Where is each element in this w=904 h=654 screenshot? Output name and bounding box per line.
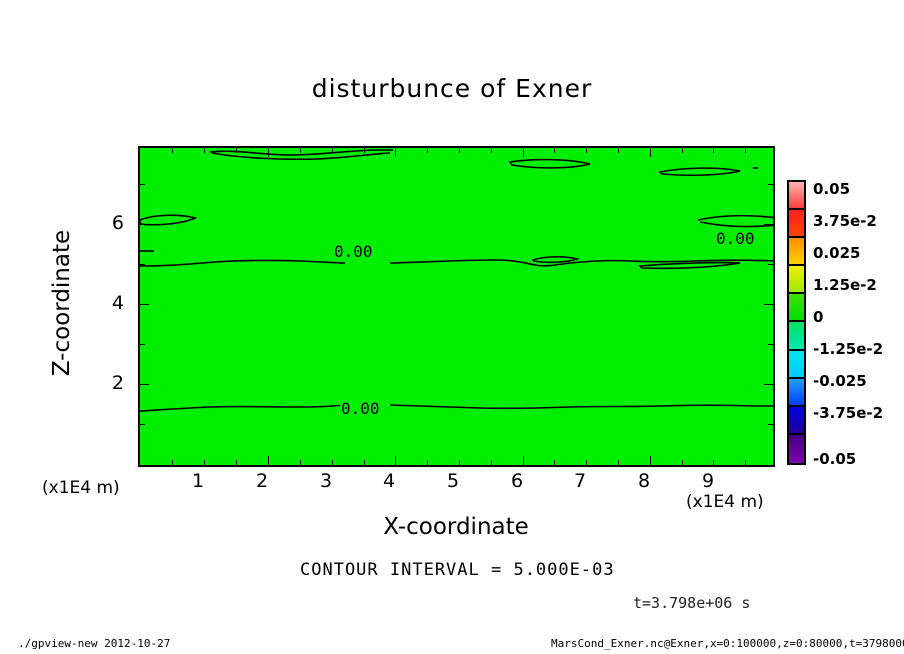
colorbar-band <box>789 182 804 210</box>
x-tick-label: 8 <box>624 470 664 492</box>
page-title: disturbunce of Exner <box>0 74 904 103</box>
colorbar-tick-label: 1.25e-2 <box>813 276 877 294</box>
y-axis-title: Z-coordinate <box>49 208 75 398</box>
x-axis-unit-label: (x1E4 m) <box>686 492 764 512</box>
contour-label: 0.00 <box>333 242 374 261</box>
y-axis-unit-label: (x1E4 m) <box>42 478 120 498</box>
colorbar-band <box>789 210 804 238</box>
colorbar-band <box>789 238 804 266</box>
colorbar-tick-label: 0.05 <box>813 180 850 198</box>
colorbar-tick-label: -1.25e-2 <box>813 340 883 358</box>
x-axis-title: X-coordinate <box>236 514 676 540</box>
x-tick-label: 1 <box>178 470 218 492</box>
colorbar-tick-label: 0 <box>813 308 823 326</box>
colorbar-tick-label: -0.025 <box>813 372 867 390</box>
colorbar-band <box>789 266 804 294</box>
contour-interval-annotation: CONTOUR INTERVAL = 5.000E-03 <box>300 560 615 580</box>
y-tick-label: 2 <box>98 372 124 394</box>
colorbar-band <box>789 351 804 379</box>
colorbar-band <box>789 435 804 463</box>
y-tick-label: 6 <box>98 212 124 234</box>
contour-plot-area <box>138 146 775 467</box>
colorbar-band <box>789 407 804 435</box>
colorbar-tick-label: -0.05 <box>813 450 856 468</box>
x-tick-label: 7 <box>560 470 600 492</box>
y-tick-label: 4 <box>98 292 124 314</box>
x-tick-label: 9 <box>688 470 728 492</box>
footer-right-text: MarsCond_Exner.nc@Exner,x=0:100000,z=0:8… <box>551 637 904 650</box>
timestamp-annotation: t=3.798e+06 s <box>633 594 750 612</box>
contour-label: 0.00 <box>715 229 756 248</box>
x-tick-label: 2 <box>242 470 282 492</box>
colorbar-band <box>789 379 804 407</box>
contour-label: 0.00 <box>340 399 381 418</box>
x-tick-label: 4 <box>369 470 409 492</box>
colorbar-tick-label: 3.75e-2 <box>813 212 877 230</box>
colorbar-tick-label: 0.025 <box>813 244 860 262</box>
colorbar <box>787 180 806 465</box>
x-tick-label: 5 <box>433 470 473 492</box>
colorbar-tick-label: -3.75e-2 <box>813 404 883 422</box>
colorbar-band <box>789 322 804 350</box>
x-tick-label: 6 <box>497 470 537 492</box>
footer-left-text: ./gpview-new 2012-10-27 <box>18 637 170 650</box>
x-tick-label: 3 <box>306 470 346 492</box>
colorbar-band <box>789 294 804 322</box>
contour-lines <box>140 148 775 467</box>
